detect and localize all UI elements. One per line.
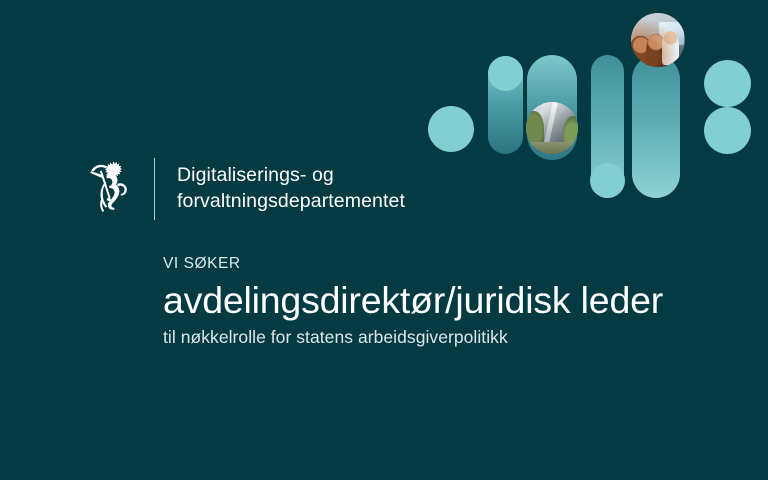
job-posting-text: VI SØKER avdelingsdirektør/juridisk lede… — [163, 255, 723, 348]
pill-gradient-3-foot — [590, 163, 625, 198]
page-subtitle: til nøkkelrolle for statens arbeidsgiver… — [163, 327, 723, 348]
norwegian-coat-of-arms-icon — [86, 159, 132, 219]
photo-meeting — [631, 13, 685, 67]
page-title: avdelingsdirektør/juridisk leder — [163, 279, 723, 321]
eyebrow-label: VI SØKER — [163, 255, 723, 273]
pill-gradient-1-cap — [488, 56, 523, 91]
circle-solid-2 — [704, 60, 751, 107]
decorative-shape-composition — [420, 0, 768, 215]
circle-solid-1 — [428, 106, 474, 152]
logo-divider — [154, 158, 155, 220]
department-name: Digitaliserings- og forvaltningsdepartem… — [177, 163, 405, 215]
ministry-logo: Digitaliserings- og forvaltningsdepartem… — [86, 158, 405, 220]
circle-solid-3 — [704, 107, 751, 154]
recruitment-poster: Digitaliserings- og forvaltningsdepartem… — [0, 0, 768, 480]
pill-gradient-4 — [632, 55, 680, 198]
photo-building — [526, 102, 578, 154]
